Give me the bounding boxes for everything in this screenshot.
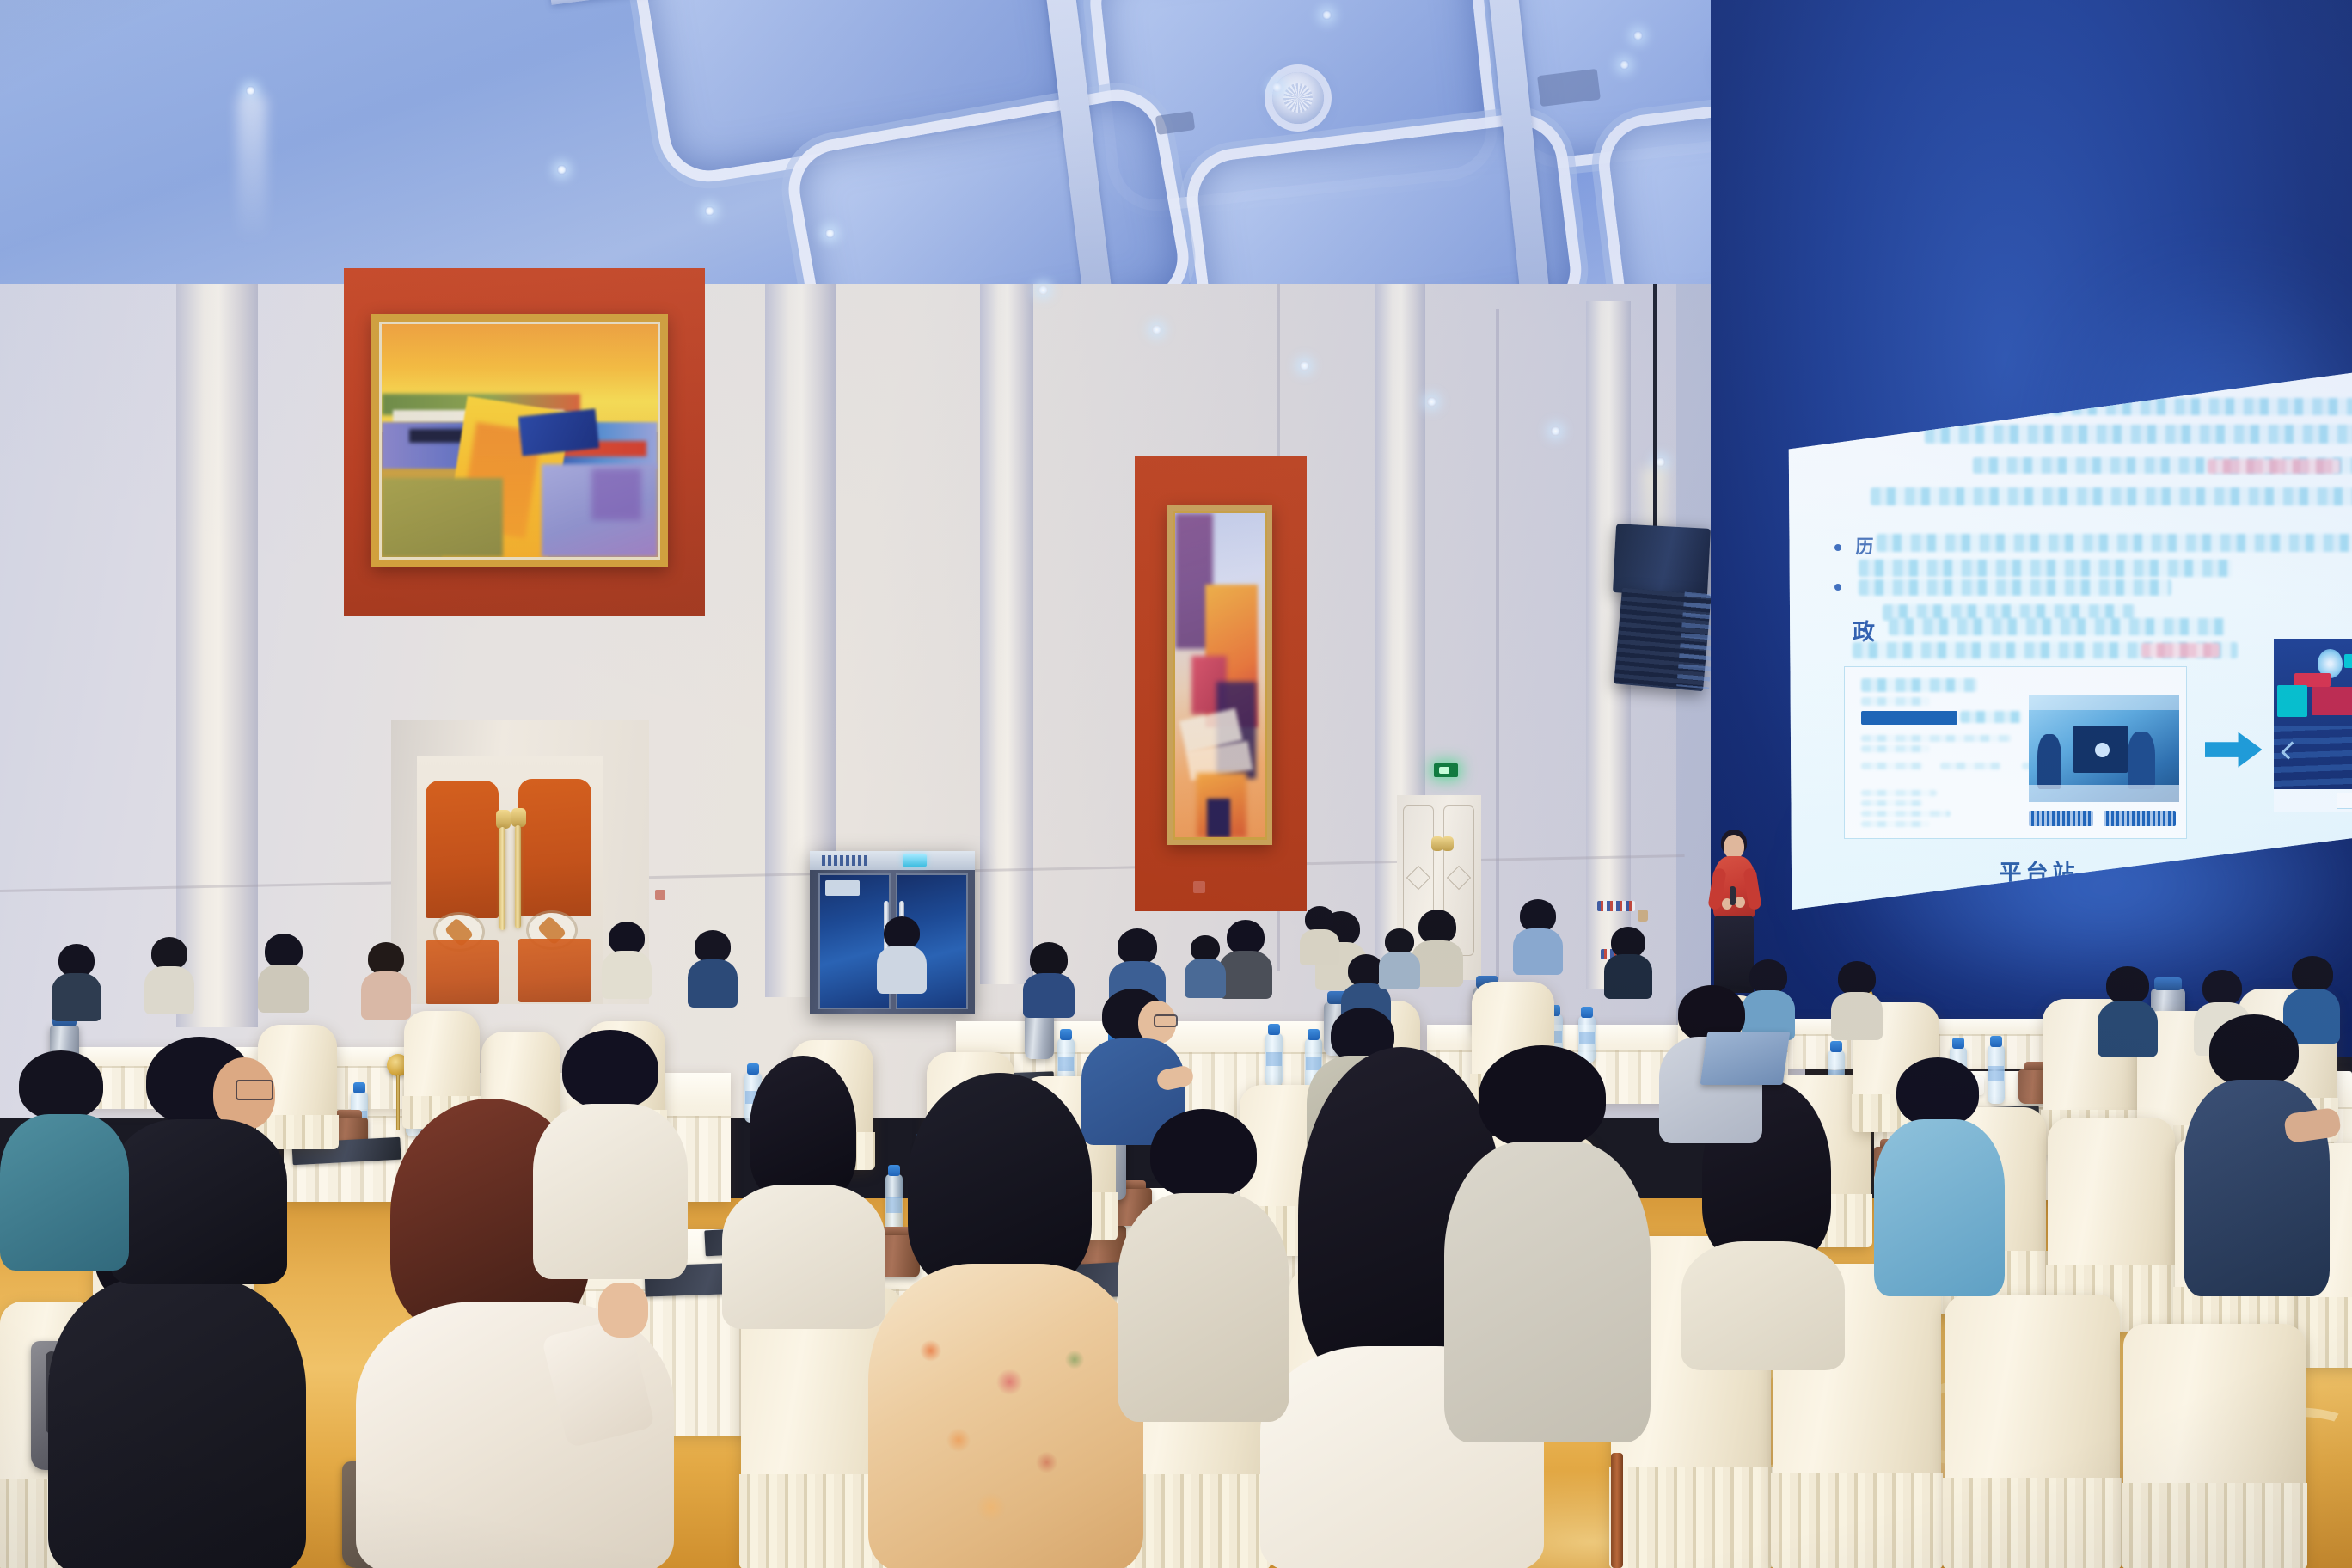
recessed-downlight — [1427, 397, 1436, 407]
attendee — [1513, 899, 1563, 971]
attendee — [1300, 906, 1339, 961]
slide-app-badge — [2312, 687, 2352, 714]
recessed-downlight — [705, 206, 714, 216]
attendee — [1023, 942, 1075, 1011]
banquet-chair — [1945, 1295, 2120, 1568]
attendee — [2184, 1014, 2330, 1289]
attendee — [1604, 927, 1652, 997]
attendee — [2098, 966, 2158, 1056]
attendee — [1118, 1109, 1289, 1418]
door-handle[interactable] — [499, 827, 505, 930]
attendee — [258, 934, 309, 1009]
recessed-downlight — [825, 229, 835, 238]
recessed-downlight — [1300, 361, 1309, 371]
emergency-exit-sign — [1434, 763, 1458, 777]
attendee — [877, 916, 927, 990]
slide-arrow-icon — [2205, 731, 2263, 769]
chair-frame — [1611, 1453, 1623, 1568]
door-handle[interactable] — [1442, 836, 1454, 851]
recessed-downlight — [1038, 285, 1048, 295]
fridge-brand-logo — [822, 855, 870, 866]
laptop[interactable] — [1700, 1032, 1791, 1085]
presenter-hand — [1735, 897, 1745, 908]
wall-outlet — [655, 890, 665, 900]
slide-mock-button-primary — [2029, 811, 2093, 826]
conference-hall-scene: 历 政 — [0, 0, 2352, 1568]
attendee-hand — [598, 1283, 648, 1338]
fridge-label — [825, 880, 860, 896]
recessed-downlight — [246, 86, 255, 95]
attendee — [1874, 1057, 2005, 1289]
abstract-vertical-painting — [1167, 505, 1272, 845]
banquet-chair — [2123, 1324, 2306, 1568]
door-handle[interactable] — [496, 810, 511, 829]
presenter-head — [1724, 835, 1744, 859]
attendee — [110, 1037, 287, 1277]
slide-app-badge — [2277, 685, 2307, 716]
attendee — [602, 922, 652, 995]
attendee — [0, 1050, 129, 1265]
wall-sticker — [1597, 901, 1635, 911]
attendee — [361, 942, 411, 1016]
attendee — [144, 937, 194, 1011]
attendee — [722, 1056, 885, 1322]
fridge-display — [903, 854, 927, 867]
attendee-hair — [908, 1073, 1092, 1289]
door-knob[interactable] — [1638, 910, 1648, 922]
projection-screen: 历 政 — [1786, 368, 2352, 910]
line-array-speaker — [1613, 524, 1711, 597]
slide-bullet — [1834, 544, 1841, 551]
recessed-downlight — [557, 165, 567, 175]
ceiling-rosette — [1272, 72, 1324, 124]
door-handle[interactable] — [511, 808, 526, 827]
attendee — [868, 1073, 1143, 1568]
slide-mock-photo — [2029, 695, 2179, 802]
attendee — [52, 944, 101, 1018]
attendee — [1219, 920, 1272, 995]
presentation-slide: 历 政 — [1786, 368, 2352, 910]
attendee — [1831, 961, 1883, 1037]
slide-mock-webpage — [1844, 666, 2187, 840]
floral-pattern — [889, 1324, 1121, 1547]
attendee — [1379, 928, 1420, 985]
attendee — [1444, 1045, 1651, 1441]
door-handle[interactable] — [515, 825, 521, 928]
attendee — [1185, 935, 1226, 994]
pilaster-3 — [980, 185, 1033, 984]
slide-app-badge — [2344, 654, 2352, 668]
slide-mock-app — [2274, 639, 2352, 812]
microphone-icon — [1730, 886, 1736, 905]
eyeglasses-icon — [236, 1080, 273, 1100]
slide-bullet-text: 历 — [1856, 533, 1874, 559]
abstract-landscape-painting — [371, 314, 668, 567]
wall-outlet — [1193, 881, 1205, 893]
slide-mock-button-secondary — [2104, 811, 2175, 826]
recessed-downlight — [1152, 325, 1161, 334]
speaker-cable — [1653, 284, 1657, 533]
ornate-double-door[interactable] — [417, 756, 603, 1004]
slide-bullet — [1834, 584, 1841, 591]
recessed-downlight — [1551, 426, 1560, 436]
attendee — [688, 930, 738, 1004]
attendee — [533, 1030, 688, 1274]
